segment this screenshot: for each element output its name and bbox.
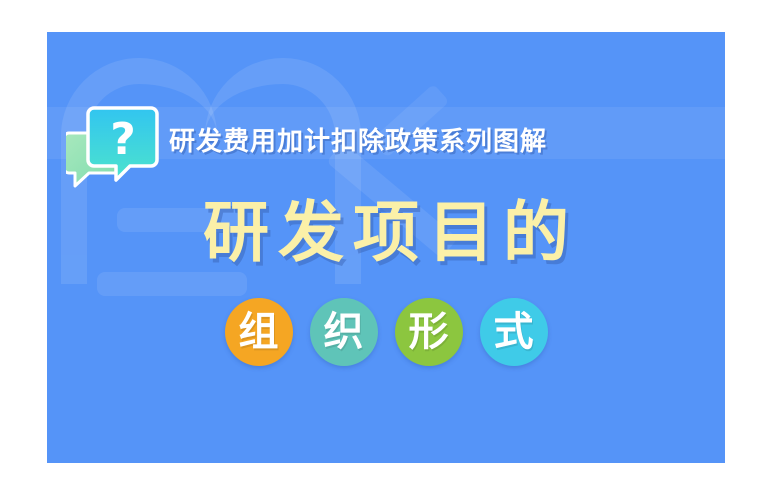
svg-text:?: ? bbox=[110, 114, 136, 165]
chip-row: 组 织 形 式 bbox=[47, 298, 725, 366]
series-title: 研发费用加计扣除政策系列图解 bbox=[169, 121, 547, 158]
chip-label: 形 bbox=[409, 312, 449, 352]
chip-label: 织 bbox=[324, 312, 364, 352]
page-title: 研发项目的 bbox=[47, 200, 725, 266]
chip-xing: 形 bbox=[395, 298, 463, 366]
poster-root: ? 研发费用加计扣除政策系列图解 研发项目的 组 织 形 式 bbox=[0, 0, 771, 481]
chip-label: 组 bbox=[239, 312, 279, 352]
question-speech-bubble-icon: ? bbox=[66, 104, 162, 192]
book-text-line-2 bbox=[97, 272, 247, 296]
chip-shi: 式 bbox=[480, 298, 548, 366]
chip-label: 式 bbox=[494, 312, 534, 352]
chip-zu: 组 bbox=[225, 298, 293, 366]
header-row: ? 研发费用加计扣除政策系列图解 bbox=[47, 88, 725, 178]
chip-zhi: 织 bbox=[310, 298, 378, 366]
poster-card: ? 研发费用加计扣除政策系列图解 研发项目的 组 织 形 式 bbox=[47, 32, 725, 463]
